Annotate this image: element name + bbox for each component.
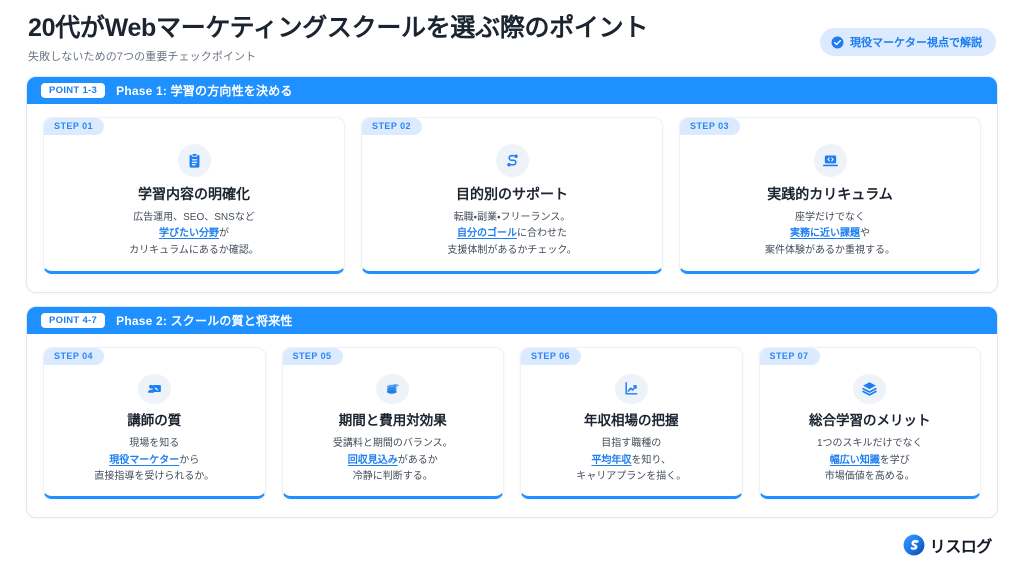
step-card-title: 目的別のサポート — [456, 186, 568, 203]
step-card-description-line: 平均年収を知り、 — [576, 453, 686, 470]
step-card-row: STEP 04講師の質現場を知る現役マーケターから直接指導を受けられるか。STE… — [27, 334, 997, 517]
step-card-description-line: 目指す職種の — [576, 436, 686, 453]
infographic-page: 20代がWebマーケティングスクールを選ぶ際のポイント 失敗しないための7つの重… — [0, 0, 1024, 569]
step-card-description-line: カリキュラムにあるか確認。 — [129, 243, 259, 260]
step-card-row: STEP 01学習内容の明確化広告運用、SEO、SNSなど学びたい分野がカリキュ… — [27, 104, 997, 292]
highlighted-keyword: 実務に近い課題 — [790, 228, 860, 239]
step-card-description: 1つのスキルだけでなく幅広い知識を学び市場価値を高める。 — [817, 436, 923, 486]
phase-label: Phase 2: スクールの質と将来性 — [116, 312, 293, 329]
step-card-description-line: 現場を知る — [94, 436, 214, 453]
rislog-squirrel-logo-icon — [903, 534, 925, 556]
coins-stack-icon — [376, 374, 409, 404]
brand-logo-text: リスログ — [930, 533, 992, 557]
phase-label: Phase 1: 学習の方向性を決める — [116, 82, 293, 99]
step-card-description-line: 直接指導を受けられるか。 — [94, 469, 214, 486]
page-footer: リスログ — [26, 525, 998, 569]
text-run: 1つのスキルだけでなく — [817, 438, 923, 449]
line-chart-icon — [615, 374, 648, 404]
text-run: があるか — [398, 455, 438, 466]
laptop-code-icon — [814, 144, 847, 177]
text-run: キャリアプランを描く。 — [576, 471, 686, 482]
step-card-description-line: 支援体制があるかチェック。 — [447, 243, 576, 260]
brand-logo[interactable]: リスログ — [903, 533, 992, 557]
text-run: 転職・副業・フリーランス。 — [454, 212, 571, 223]
phase-section-2: POINT 4-7Phase 2: スクールの質と将来性STEP 04講師の質現… — [26, 306, 998, 518]
step-number-label: STEP 07 — [760, 348, 820, 365]
step-card-title: 期間と費用対効果 — [339, 413, 447, 429]
highlighted-keyword: 現役マーケター — [109, 455, 179, 466]
step-card-title: 学習内容の明確化 — [138, 186, 250, 203]
text-run: 目指す職種の — [601, 438, 661, 449]
step-card-description-line: キャリアプランを描く。 — [576, 469, 686, 486]
step-card-description-line: 自分のゴールに合わせた — [447, 226, 576, 243]
highlighted-keyword: 学びたい分野 — [159, 228, 219, 239]
step-card-description-line: 市場価値を高める。 — [817, 469, 923, 486]
text-run: 広告運用、SEO、SNSなど — [133, 212, 255, 223]
highlighted-keyword: 回収見込み — [348, 455, 398, 466]
step-number-label: STEP 04 — [44, 348, 104, 365]
text-run: を学び — [880, 455, 910, 466]
text-run: 冷静に判断する。 — [353, 471, 433, 482]
step-card-description-line: 転職・副業・フリーランス。 — [447, 210, 576, 227]
text-run: 直接指導を受けられるか。 — [94, 471, 214, 482]
highlighted-keyword: 平均年収 — [591, 455, 631, 466]
page-title: 20代がWebマーケティングスクールを選ぶ際のポイント — [28, 14, 648, 43]
phase-header-bar: POINT 1-3Phase 1: 学習の方向性を決める — [27, 77, 997, 104]
step-card-title: 総合学習のメリット — [809, 413, 931, 429]
step-card-title: 年収相場の把握 — [584, 413, 679, 429]
header-badge[interactable]: 現役マーケター視点で解説 — [820, 28, 996, 56]
step-card-description: 現場を知る現役マーケターから直接指導を受けられるか。 — [94, 436, 214, 486]
step-card-description-line: 現役マーケターから — [94, 453, 214, 470]
step-card[interactable]: STEP 01学習内容の明確化広告運用、SEO、SNSなど学びたい分野がカリキュ… — [43, 117, 345, 274]
step-card-description: 目指す職種の平均年収を知り、キャリアプランを描く。 — [576, 436, 686, 486]
text-run: が — [219, 228, 229, 239]
text-run: 座学だけでなく — [795, 212, 865, 223]
text-run: に合わせた — [517, 228, 567, 239]
step-card-description-line: 学びたい分野が — [129, 226, 259, 243]
step-card-description: 広告運用、SEO、SNSなど学びたい分野がカリキュラムにあるか確認。 — [129, 210, 259, 260]
phase-header-bar: POINT 4-7Phase 2: スクールの質と将来性 — [27, 307, 997, 334]
text-run: から — [179, 455, 199, 466]
header-badge-label: 現役マーケター視点で解説 — [850, 34, 982, 50]
step-card-description-line: 受講料と期間のバランス。 — [333, 436, 453, 453]
check-circle-icon — [831, 36, 844, 49]
text-run: 案件体験があるか重視する。 — [765, 245, 895, 256]
text-run: 受講料と期間のバランス。 — [333, 438, 453, 449]
step-number-label: STEP 02 — [362, 118, 422, 135]
step-card-description: 座学だけでなく実務に近い課題や案件体験があるか重視する。 — [765, 210, 895, 260]
clipboard-list-icon — [178, 144, 211, 177]
phase-list: POINT 1-3Phase 1: 学習の方向性を決めるSTEP 01学習内容の… — [26, 76, 998, 518]
step-card[interactable]: STEP 06年収相場の把握目指す職種の平均年収を知り、キャリアプランを描く。 — [520, 347, 743, 499]
phase-section-1: POINT 1-3Phase 1: 学習の方向性を決めるSTEP 01学習内容の… — [26, 76, 998, 293]
step-card-description-line: 実務に近い課題や — [765, 226, 895, 243]
text-run: を知り、 — [631, 455, 671, 466]
step-card-description-line: 幅広い知識を学び — [817, 453, 923, 470]
text-run: や — [860, 228, 870, 239]
step-card-description-line: 広告運用、SEO、SNSなど — [129, 210, 259, 227]
step-card-description-line: 座学だけでなく — [765, 210, 895, 227]
text-run: 支援体制があるかチェック。 — [447, 245, 576, 256]
step-card-title: 実践的カリキュラム — [767, 186, 893, 203]
step-card-description-line: 冷静に判断する。 — [333, 469, 453, 486]
step-number-label: STEP 05 — [283, 348, 343, 365]
step-card[interactable]: STEP 02目的別のサポート転職・副業・フリーランス。自分のゴールに合わせた支… — [361, 117, 663, 274]
highlighted-keyword: 自分のゴール — [457, 228, 517, 239]
step-number-label: STEP 03 — [680, 118, 740, 135]
step-card[interactable]: STEP 05期間と費用対効果受講料と期間のバランス。回収見込みがあるか冷静に判… — [282, 347, 505, 499]
step-number-label: STEP 01 — [44, 118, 104, 135]
route-path-icon — [496, 144, 529, 177]
layers-stack-icon — [853, 374, 886, 404]
step-card-title: 講師の質 — [127, 413, 181, 429]
text-run: カリキュラムにあるか確認。 — [129, 245, 259, 256]
page-header: 20代がWebマーケティングスクールを選ぶ際のポイント 失敗しないための7つの重… — [26, 14, 998, 64]
step-card-description-line: 1つのスキルだけでなく — [817, 436, 923, 453]
text-run: 市場価値を高める。 — [825, 471, 915, 482]
page-subtitle: 失敗しないための7つの重要チェックポイント — [28, 48, 648, 64]
step-card[interactable]: STEP 03実践的カリキュラム座学だけでなく実務に近い課題や案件体験があるか重… — [679, 117, 981, 274]
step-card[interactable]: STEP 07総合学習のメリット1つのスキルだけでなく幅広い知識を学び市場価値を… — [759, 347, 982, 499]
step-card[interactable]: STEP 04講師の質現場を知る現役マーケターから直接指導を受けられるか。 — [43, 347, 266, 499]
step-card-description-line: 回収見込みがあるか — [333, 453, 453, 470]
phase-point-badge: POINT 1-3 — [41, 83, 105, 99]
highlighted-keyword: 幅広い知識 — [830, 455, 880, 466]
step-number-label: STEP 06 — [521, 348, 581, 365]
phase-point-badge: POINT 4-7 — [41, 313, 105, 329]
step-card-description-line: 案件体験があるか重視する。 — [765, 243, 895, 260]
step-card-description: 受講料と期間のバランス。回収見込みがあるか冷静に判断する。 — [333, 436, 453, 486]
presenter-screen-icon — [138, 374, 171, 404]
text-run: 現場を知る — [129, 438, 179, 449]
step-card-description: 転職・副業・フリーランス。自分のゴールに合わせた支援体制があるかチェック。 — [447, 210, 576, 260]
header-text-group: 20代がWebマーケティングスクールを選ぶ際のポイント 失敗しないための7つの重… — [28, 14, 648, 64]
